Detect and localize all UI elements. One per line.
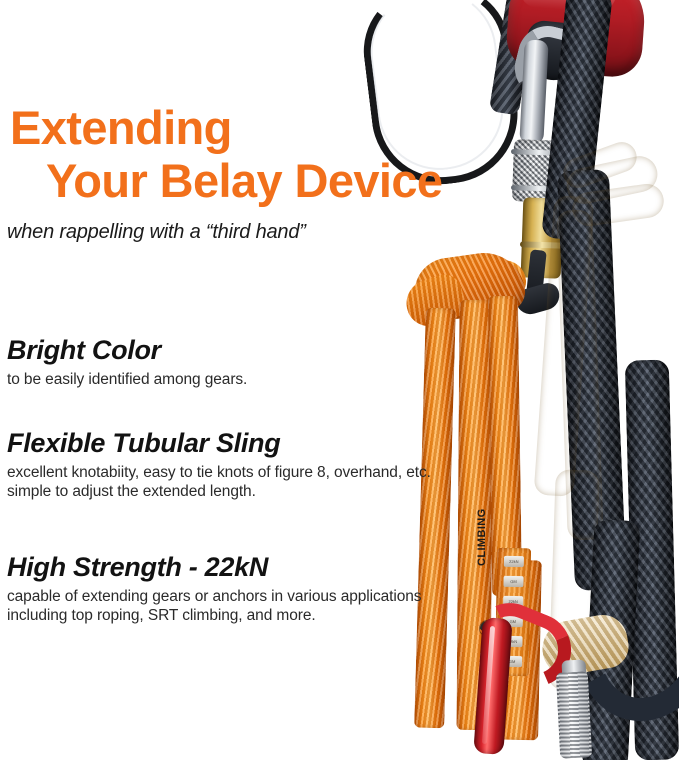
feature-block-high-strength: High Strength - 22kN capable of extendin… [7, 552, 457, 625]
headline-line-2: Your Belay Device [10, 154, 470, 207]
feature-block-flexible-tubular-sling: Flexible Tubular Sling excellent knotabi… [7, 428, 457, 501]
page-title: Extending Your Belay Device [10, 101, 470, 207]
feature-description-line: including top roping, SRT climbing, and … [7, 606, 457, 625]
brand-name-text: CLIMBING [476, 456, 498, 566]
feature-block-bright-color: Bright Color to be easily identified amo… [7, 335, 457, 389]
product-feature-image: GM CLIMBING 22kN GM 22kN GM 22kN GM CLIM… [0, 0, 679, 760]
subtitle: when rappelling with a “third hand” [7, 221, 306, 244]
marketing-copy: Extending Your Belay Device when rappell… [0, 0, 470, 760]
feature-description-line: excellent knotabiity, easy to tie knots … [7, 463, 457, 482]
lower-screw-lock-sleeve [556, 671, 592, 759]
feature-description-line: simple to adjust the extended length. [7, 482, 457, 501]
feature-title: High Strength - 22kN [7, 552, 457, 583]
feature-description-line: to be easily identified among gears. [7, 370, 457, 389]
label-tag: 22kN [504, 556, 524, 567]
steel-carabiner-spine [519, 39, 548, 144]
headline-line-1: Extending [10, 101, 232, 154]
feature-title: Bright Color [7, 335, 457, 366]
feature-title: Flexible Tubular Sling [7, 428, 457, 459]
label-tag: GM [503, 576, 523, 587]
feature-description-line: capable of extending gears or anchors in… [7, 587, 457, 606]
